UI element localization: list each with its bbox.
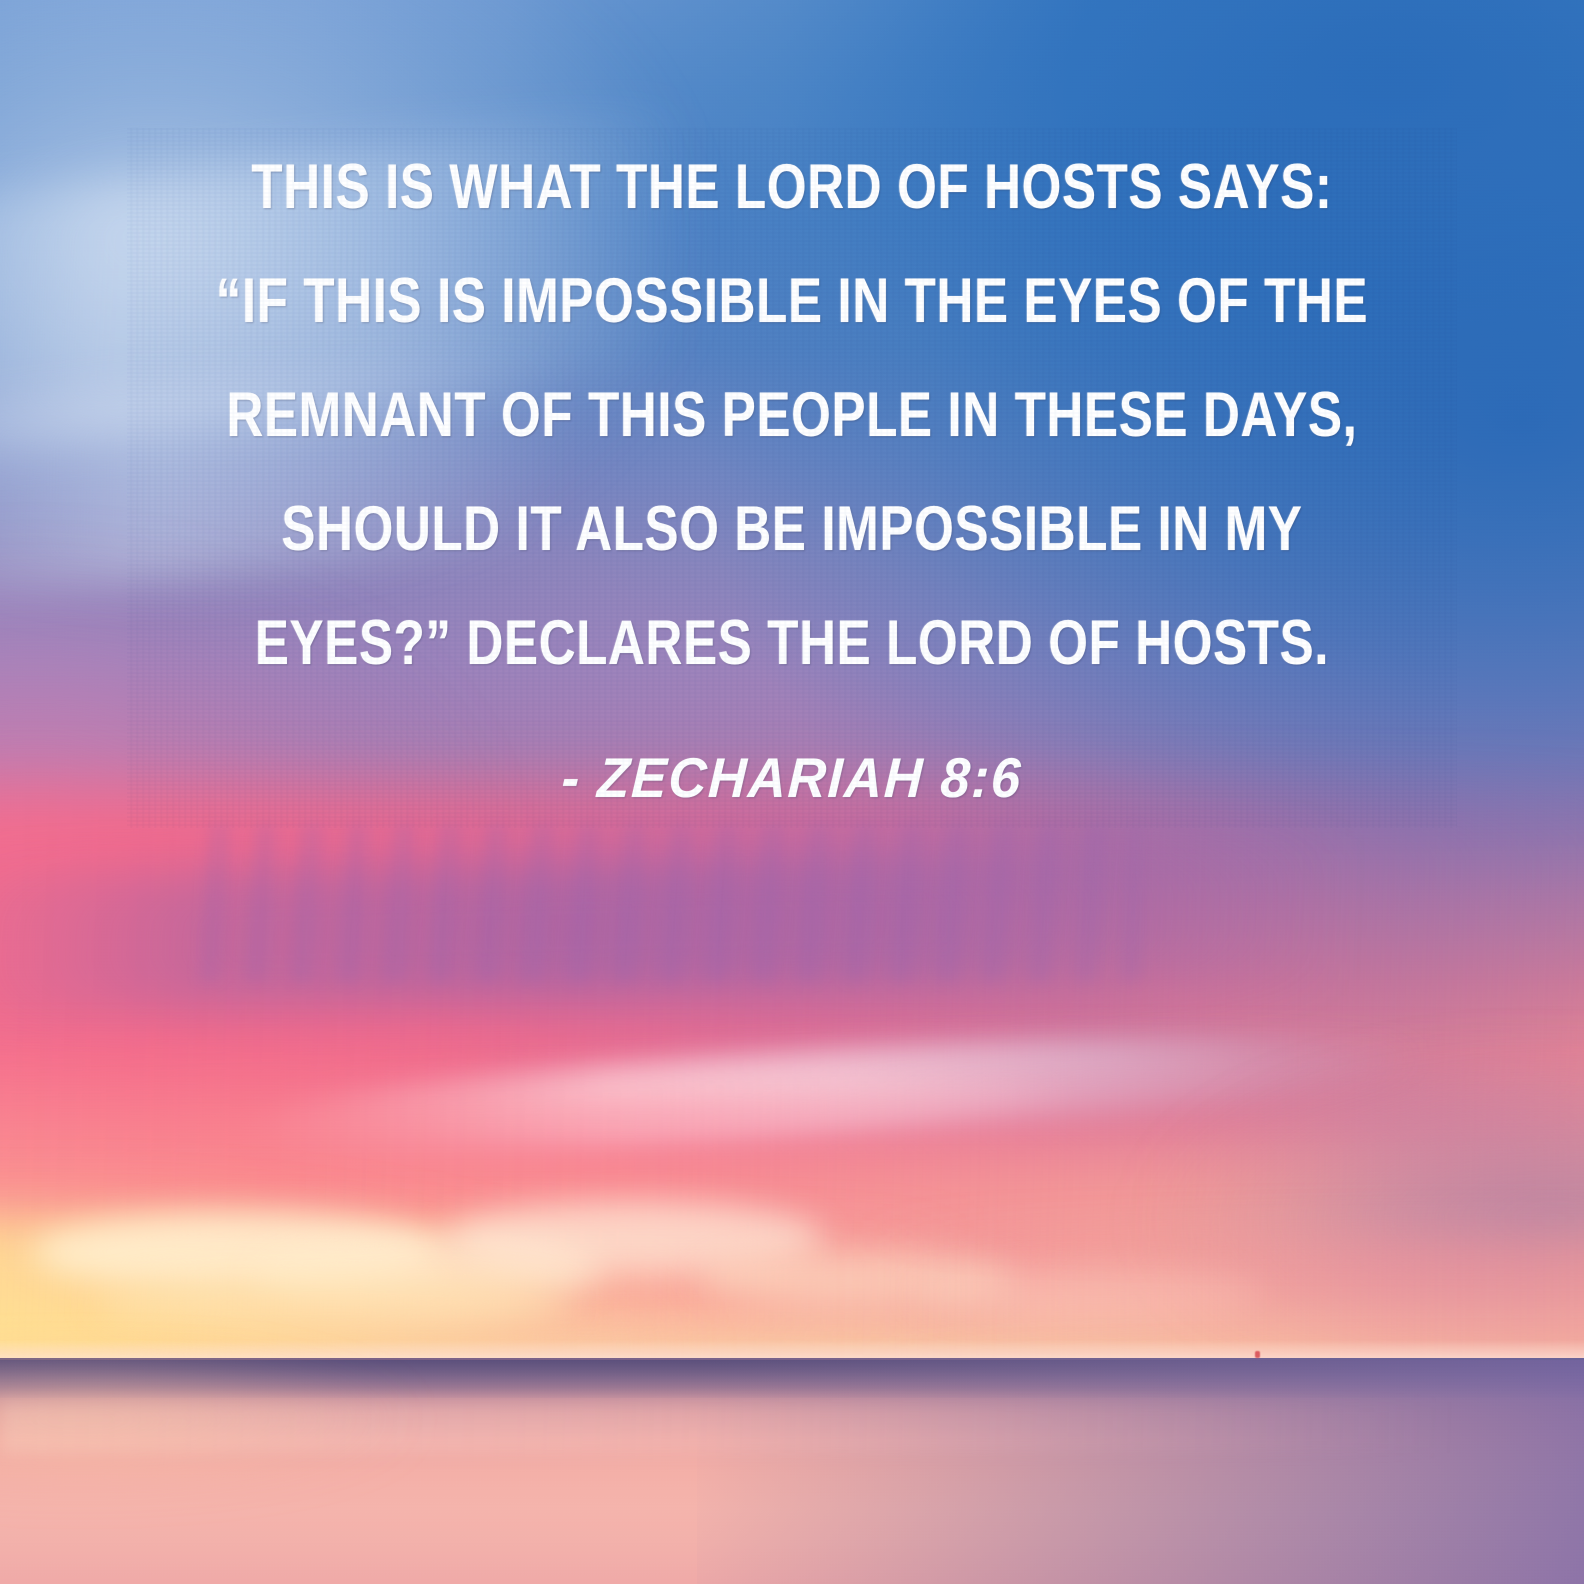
verse-line-1: THIS IS WHAT THE LORD OF HOSTS SAYS: <box>150 130 1435 244</box>
cumulus-puff <box>253 1239 601 1306</box>
silver-streak-cloud-core <box>411 1068 1078 1150</box>
golden-horizon-glow <box>0 1140 1014 1457</box>
sea-light-sheen <box>0 1402 1584 1453</box>
golden-horizon-band <box>0 1220 982 1370</box>
verse-reference: - ZECHARIAH 8:6 <box>46 746 1538 810</box>
verse-image-canvas: THIS IS WHAT THE LORD OF HOSTS SAYS: “IF… <box>0 0 1584 1584</box>
sea-purple-right <box>697 1360 1584 1584</box>
verse-text-block: THIS IS WHAT THE LORD OF HOSTS SAYS: “IF… <box>0 130 1584 810</box>
dusk-purple-right <box>887 1045 1584 1393</box>
horizon-haze <box>0 1340 1584 1365</box>
cumulus-puff <box>32 1212 444 1291</box>
cumulus-puff <box>919 1270 1267 1318</box>
verse-line-3: REMNANT OF THIS PEOPLE IN THESE DAYS, <box>150 358 1435 472</box>
violet-cloud-shadow <box>0 834 1459 1019</box>
verse-line-2: “IF THIS IS IMPOSSIBLE IN THE EYES OF TH… <box>150 244 1435 358</box>
sea-surface <box>0 1360 1584 1584</box>
verse-line-5: EYES?” DECLARES THE LORD OF HOSTS. <box>150 586 1435 700</box>
cumulus-puff <box>697 1251 1014 1305</box>
cumulus-puff <box>444 1201 824 1274</box>
verse-line-4: SHOULD IT ALSO BE IMPOSSIBLE IN MY <box>150 472 1435 586</box>
cumulus-puff <box>95 1275 570 1332</box>
navigation-light-dot <box>1255 1351 1260 1358</box>
silver-streak-cloud <box>220 1016 1427 1174</box>
cloud-striations <box>190 824 1140 982</box>
lower-salmon-cloud-mass <box>0 1077 1584 1330</box>
sea-far-water-band <box>0 1360 1584 1398</box>
horizon-line <box>0 1358 1584 1361</box>
salmon-glow-right-horizon <box>855 1236 1584 1371</box>
magenta-cloud-band <box>0 792 1584 1140</box>
sea-gold-reflection <box>0 1362 634 1505</box>
